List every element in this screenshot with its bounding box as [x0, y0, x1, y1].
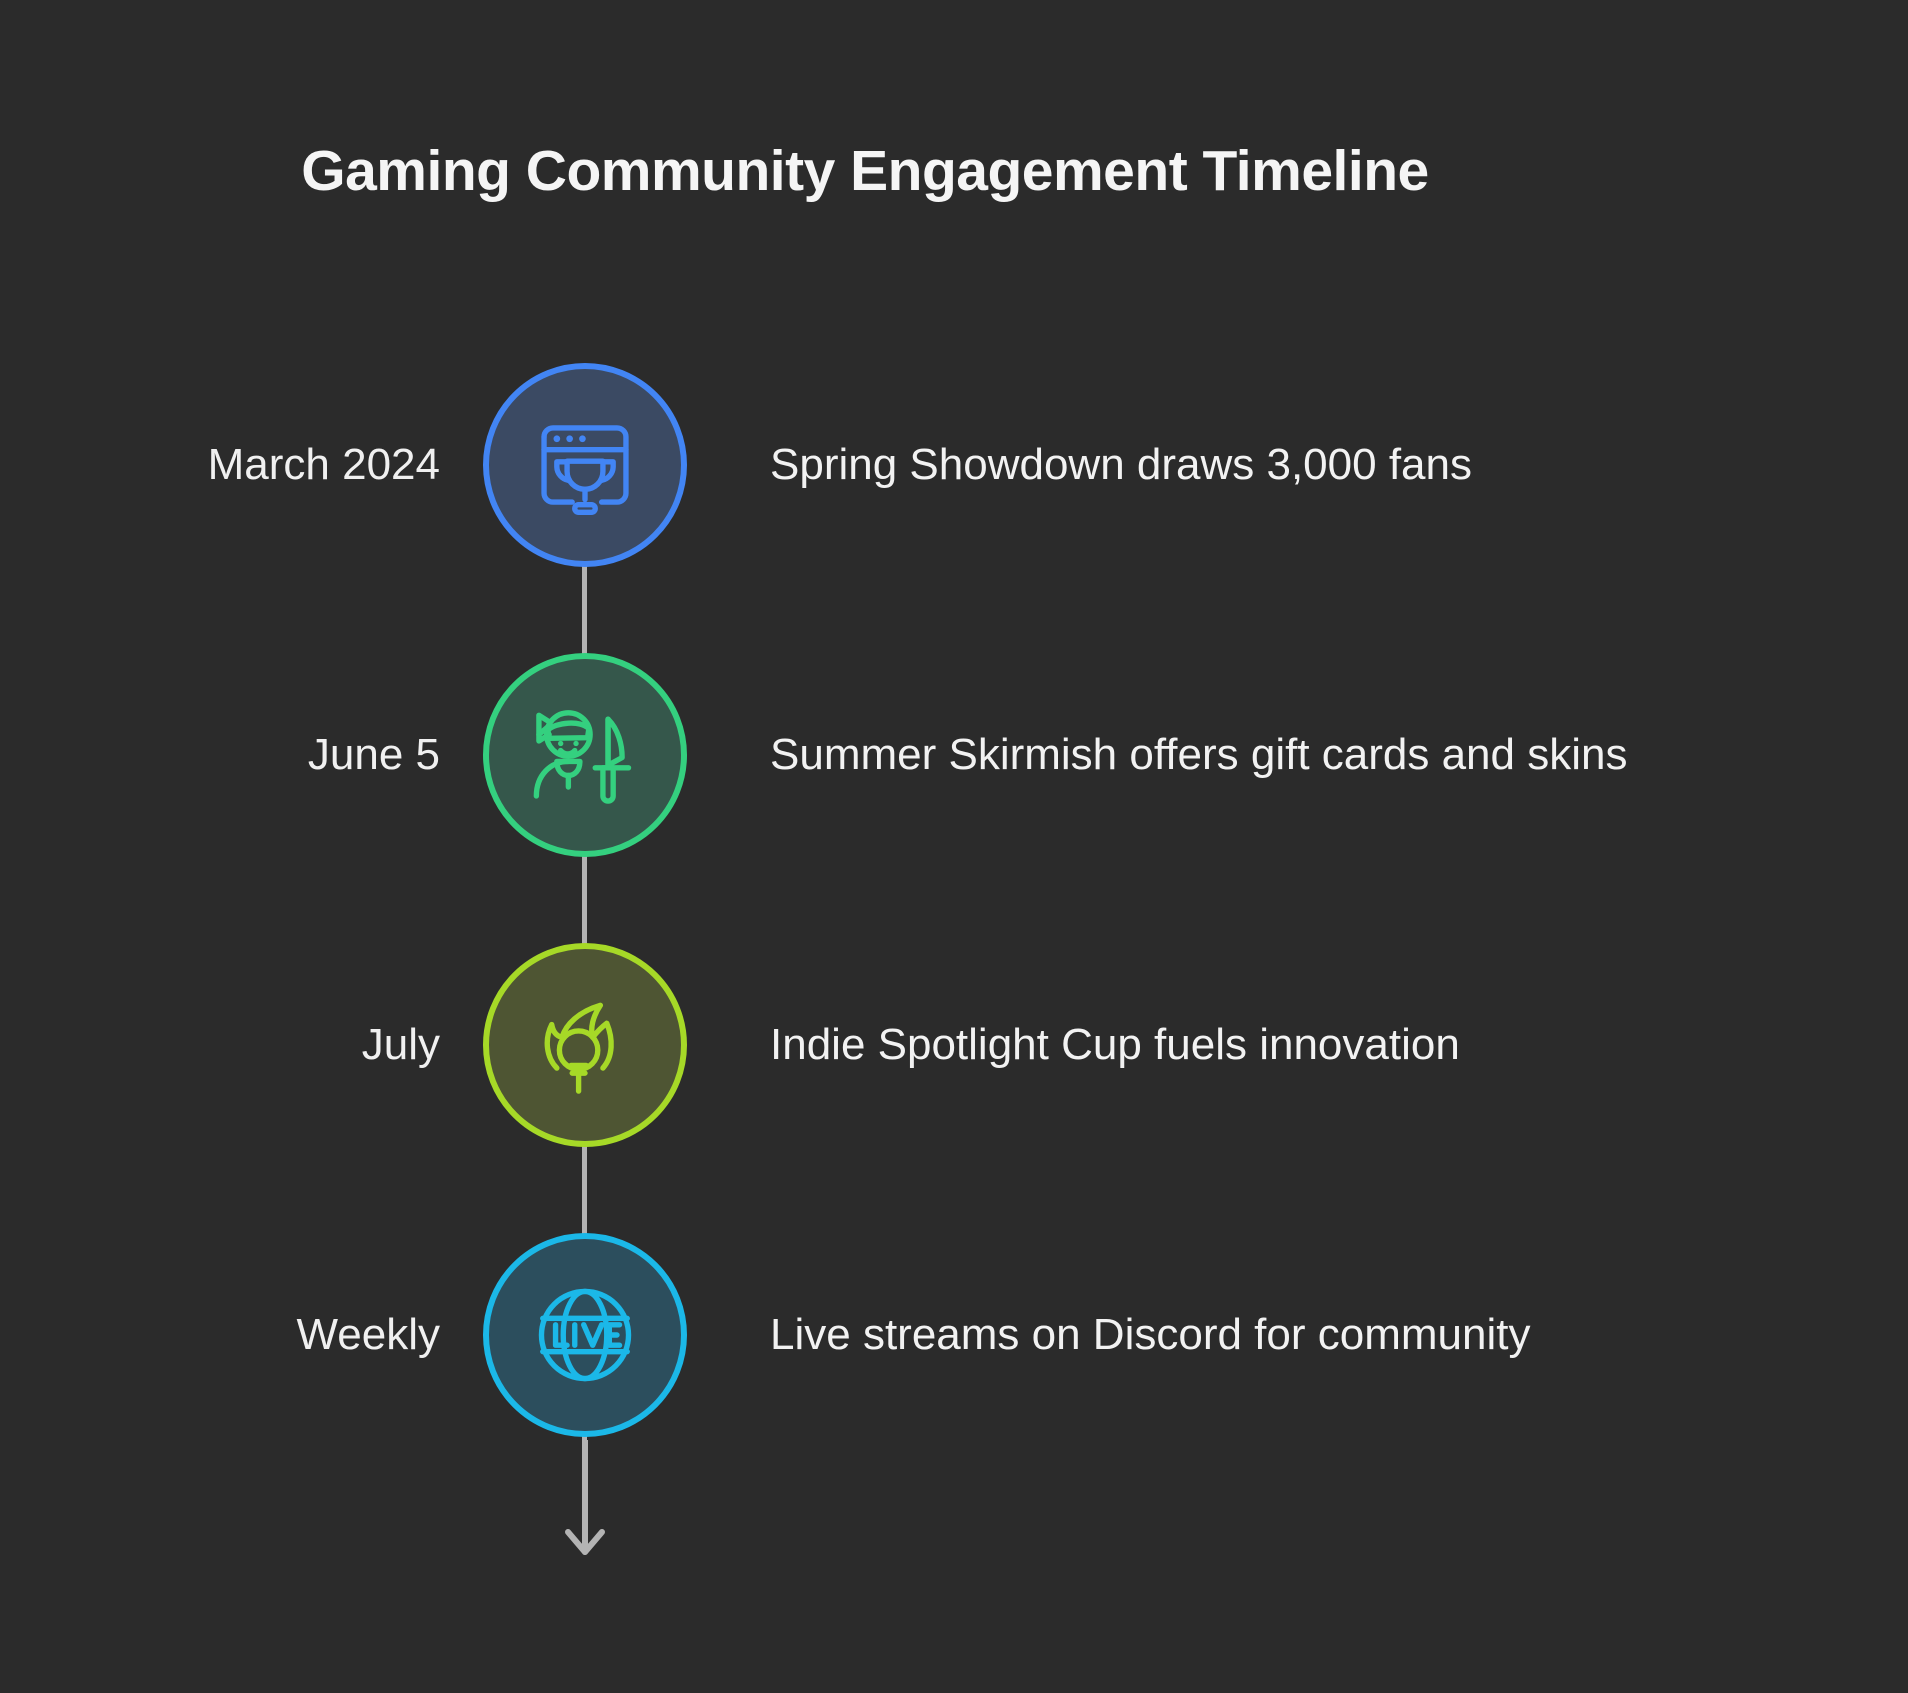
globe-live-icon — [521, 1271, 649, 1399]
flame-lightbulb-icon — [521, 981, 649, 1109]
timeline-item-description: Spring Showdown draws 3,000 fans — [770, 350, 1860, 580]
timeline-item[interactable]: Weekly — [0, 1220, 1908, 1450]
timeline-item-marker[interactable] — [470, 930, 700, 1160]
timeline-item-description: Indie Spotlight Cup fuels innovation — [770, 930, 1860, 1160]
timeline-item-icon-bubble — [483, 653, 687, 857]
timeline-infographic: Gaming Community Engagement Timeline Mar… — [0, 0, 1908, 1693]
page-title: Gaming Community Engagement Timeline — [0, 140, 1730, 203]
timeline-item-icon-bubble — [483, 363, 687, 567]
timeline-item-icon-bubble — [483, 1233, 687, 1437]
timeline-item-date: July — [80, 930, 440, 1160]
timeline-item-marker[interactable] — [470, 1220, 700, 1450]
timeline-item[interactable]: March 2024 — [0, 350, 1908, 580]
timeline-item-marker[interactable] — [470, 640, 700, 870]
timeline-container: March 2024 — [0, 320, 1908, 1590]
browser-trophy-icon — [521, 401, 649, 529]
timeline-item-date: Weekly — [80, 1220, 440, 1450]
pirate-sword-icon — [521, 691, 649, 819]
timeline-item-description: Summer Skirmish offers gift cards and sk… — [770, 640, 1860, 870]
timeline-item[interactable]: July — [0, 930, 1908, 1160]
timeline-item[interactable]: June 5 — [0, 640, 1908, 870]
timeline-item-description: Live streams on Discord for community — [770, 1220, 1860, 1450]
timeline-end-arrow-icon — [555, 1440, 615, 1570]
timeline-item-icon-bubble — [483, 943, 687, 1147]
timeline-item-marker[interactable] — [470, 350, 700, 580]
timeline-item-date: June 5 — [80, 640, 440, 870]
timeline-item-date: March 2024 — [80, 350, 440, 580]
